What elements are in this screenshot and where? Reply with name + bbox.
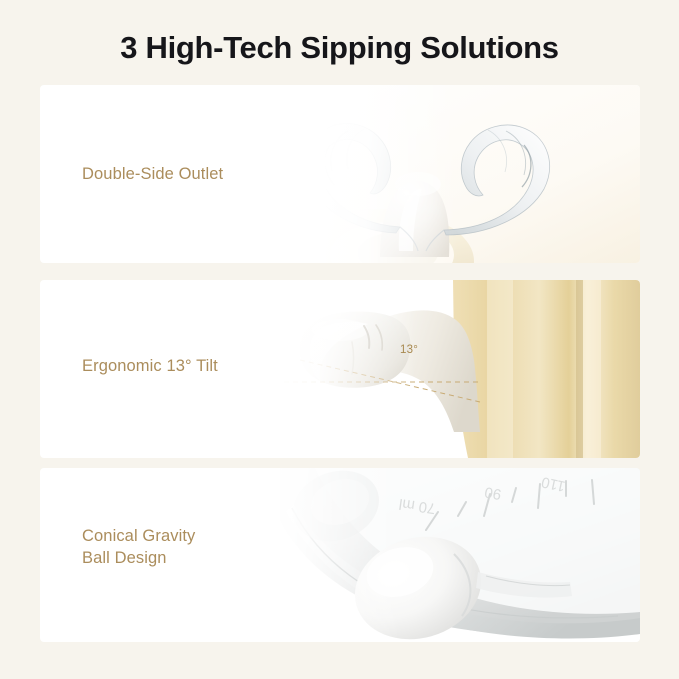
bottle-gravity-ball-photo: 70 ml 90 110: [240, 468, 640, 642]
bottle-nipple-double-stream-photo: [260, 85, 640, 263]
page-title: 3 High-Tech Sipping Solutions: [0, 30, 679, 66]
feature-label-gravity-ball: Conical Gravity Ball Design: [82, 525, 195, 569]
feature-card-ergonomic-tilt: 13° Ergonomic 13° Tilt: [40, 280, 640, 458]
svg-text:90: 90: [483, 483, 502, 503]
feature-card-gravity-ball: 70 ml 90 110 Conical Gravity Ball Design: [40, 468, 640, 642]
double-stream-illustration: [260, 85, 640, 263]
feature-card-double-side-outlet: Double-Side Outlet: [40, 85, 640, 263]
tilt-angle-illustration: [240, 280, 640, 458]
gravity-ball-illustration: 70 ml 90 110: [240, 468, 640, 642]
feature-label-double-side-outlet: Double-Side Outlet: [82, 163, 223, 185]
feature-label-ergonomic-tilt: Ergonomic 13° Tilt: [82, 355, 218, 377]
tilt-angle-annotation: 13°: [400, 344, 418, 356]
bottle-nipple-tilt-angle-photo: [240, 280, 640, 458]
infographic-page: 3 High-Tech Sipping Solutions: [0, 0, 679, 679]
